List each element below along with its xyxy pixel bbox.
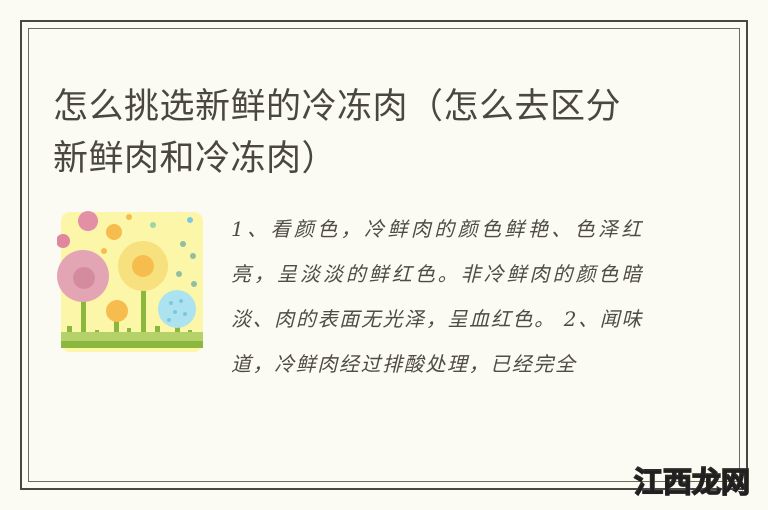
blue-flower: [158, 290, 196, 328]
teal-dot: [180, 241, 186, 247]
blue-flower-dot: [173, 310, 177, 314]
grass-ground: [61, 341, 203, 348]
yellow-flower-small: [106, 300, 128, 322]
pink-flower-center: [73, 267, 95, 289]
teal-dot: [150, 222, 156, 228]
article-body-text: 1、看颜色，冷鲜肉的颜色鲜艳、色泽红亮，呈淡淡的鲜红色。非冷鲜肉的颜色暗淡、肉的…: [231, 207, 643, 457]
teal-dot: [190, 253, 196, 259]
yellow-dot-top: [106, 224, 122, 240]
article-card: 怎么挑选新鲜的冷冻肉（怎么去区分新鲜肉和冷冻肉）: [0, 0, 768, 510]
pink-flower-top: [78, 211, 98, 231]
blue-flower-dot: [167, 318, 171, 322]
teal-dot: [176, 271, 182, 277]
flowers-illustration: [57, 208, 207, 356]
blue-flower-dot: [183, 312, 187, 316]
blue-flower-dot: [169, 301, 173, 305]
page-title: 怎么挑选新鲜的冷冻肉（怎么去区分新鲜肉和冷冻肉）: [53, 81, 653, 185]
article-thumbnail: [57, 208, 207, 356]
teal-dot: [187, 217, 193, 223]
site-watermark: 江西龙网: [634, 469, 750, 498]
yellow-flower-center: [132, 255, 154, 277]
yellow-dot-small: [126, 214, 132, 220]
yellow-dot-small: [101, 248, 107, 254]
blue-flower-dot: [179, 299, 183, 303]
teal-dot: [191, 281, 197, 287]
